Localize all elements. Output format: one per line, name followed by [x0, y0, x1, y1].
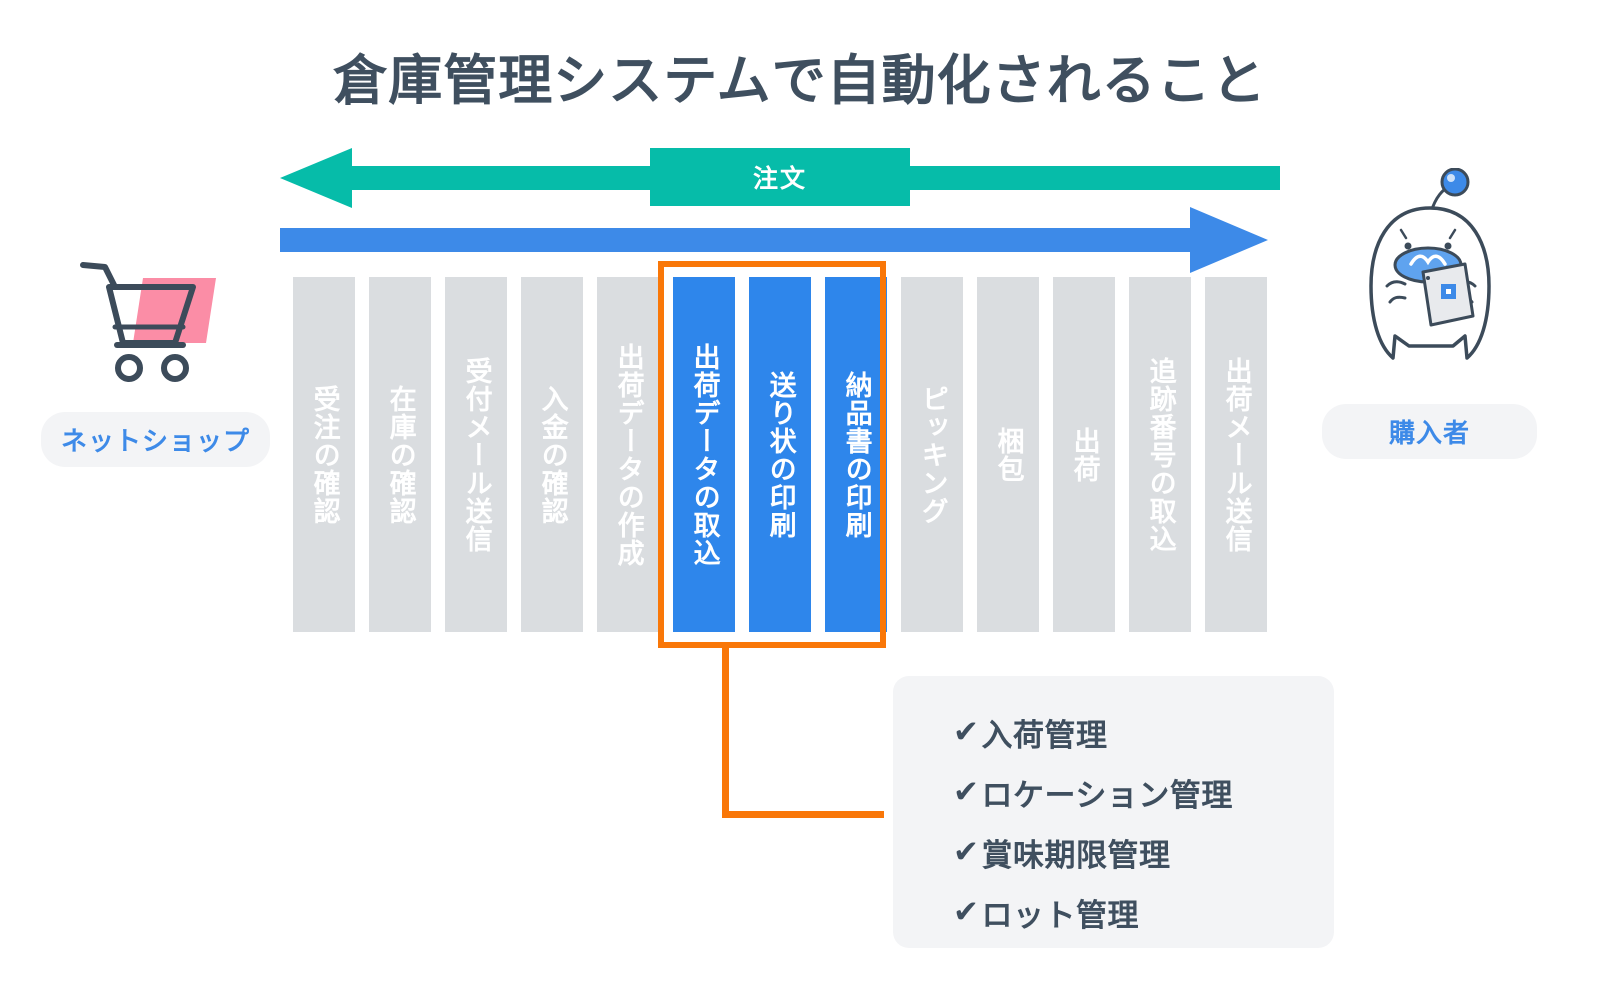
order-label-text: 注文	[753, 159, 807, 195]
connector-line-vertical	[722, 648, 729, 818]
process-column-zaiko-no-kakunin[interactable]: 在庫の確認	[369, 277, 431, 632]
process-column-picking[interactable]: ピッキング	[901, 277, 963, 632]
process-column-label: 出荷メール送信	[1221, 357, 1250, 553]
process-column-label: 納品書の印刷	[841, 371, 870, 539]
arrow-right-icon	[280, 205, 1280, 275]
feature-label: ロケーション管理	[981, 770, 1232, 815]
fulfillment-flow-arrow-blue	[280, 205, 1280, 275]
process-column-label: 入金の確認	[537, 385, 566, 525]
process-column-label: 送り状の印刷	[765, 371, 794, 539]
endpoint-net-shop: ネットショップ	[48, 255, 263, 467]
process-column-uketsuke-mail[interactable]: 受付メール送信	[445, 277, 507, 632]
process-column-label: 受注の確認	[309, 385, 338, 525]
process-column-nohinsho-insatsu[interactable]: 納品書の印刷	[825, 277, 887, 632]
process-column-konpou[interactable]: 梱包	[977, 277, 1039, 632]
process-column-juchu-no-kakunin[interactable]: 受注の確認	[293, 277, 355, 632]
process-column-shukka[interactable]: 出荷	[1053, 277, 1115, 632]
customer-mascot-icon	[1335, 168, 1525, 388]
feature-list-item: ✔ 入荷管理	[893, 702, 1334, 762]
order-label-badge: 注文	[650, 148, 910, 206]
connector-line-horizontal	[722, 811, 884, 818]
process-column-label: 梱包	[993, 427, 1022, 483]
process-column-label: 出荷データの取込	[689, 343, 718, 567]
page-title: 倉庫管理システムで自動化されること	[0, 36, 1600, 115]
process-column-shukka-data-torikomi[interactable]: 出荷データの取込	[673, 277, 735, 632]
endpoint-right-label: 購入者	[1322, 404, 1537, 459]
process-column-label: 追跡番号の取込	[1145, 357, 1174, 553]
process-column-label: ピッキング	[917, 385, 946, 525]
process-column-label: 受付メール送信	[461, 357, 490, 553]
endpoint-buyer: 購入者	[1322, 168, 1537, 459]
process-column-label: 在庫の確認	[385, 385, 414, 525]
wms-feature-list-card: ✔ 入荷管理 ✔ ロケーション管理 ✔ 賞味期限管理 ✔ ロット管理	[893, 676, 1334, 948]
feature-label: 入荷管理	[981, 710, 1107, 755]
process-column-nyukin-no-kakunin[interactable]: 入金の確認	[521, 277, 583, 632]
check-icon: ✔	[953, 774, 979, 810]
process-column-label: 出荷	[1069, 427, 1098, 483]
check-icon: ✔	[953, 714, 979, 750]
process-column-tsuiseki-bango[interactable]: 追跡番号の取込	[1129, 277, 1191, 632]
shopping-cart-icon	[71, 255, 241, 390]
feature-list-item: ✔ ロケーション管理	[893, 762, 1334, 822]
process-column-shukka-data-sakusei[interactable]: 出荷データの作成	[597, 277, 659, 632]
endpoint-left-label: ネットショップ	[41, 412, 270, 467]
process-column-shukka-mail[interactable]: 出荷メール送信	[1205, 277, 1267, 632]
feature-list-item: ✔ ロット管理	[893, 882, 1334, 942]
check-icon: ✔	[953, 834, 979, 870]
process-column-okurijo-insatsu[interactable]: 送り状の印刷	[749, 277, 811, 632]
check-icon: ✔	[953, 894, 979, 930]
feature-list-item: ✔ 賞味期限管理	[893, 822, 1334, 882]
feature-label: ロット管理	[981, 890, 1139, 935]
diagram-canvas: 倉庫管理システムで自動化されること 注文 受注の確認 在庫の確認 受付メール送信…	[0, 0, 1600, 1000]
process-column-label: 出荷データの作成	[613, 343, 642, 567]
feature-label: 賞味期限管理	[981, 830, 1170, 875]
